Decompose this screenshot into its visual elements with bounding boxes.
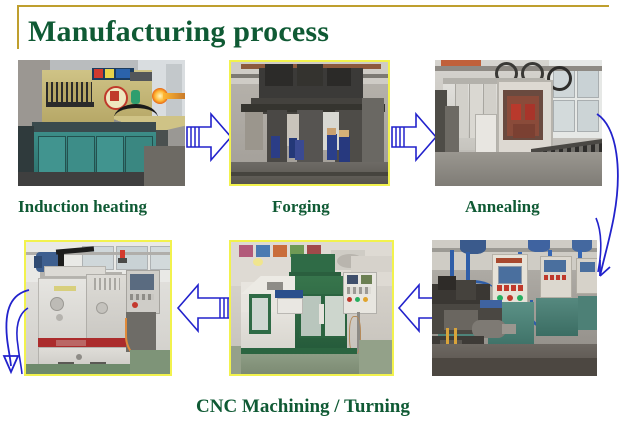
arrow-heating-to-forging xyxy=(186,110,232,164)
arrow-cnc-left-out xyxy=(0,286,32,376)
induction-heating-scene xyxy=(18,60,185,186)
arrow-cnc-center-to-cnc-left xyxy=(177,282,233,334)
photo-forging xyxy=(229,60,390,186)
page-title: Manufacturing process xyxy=(28,15,329,49)
slide-canvas: Manufacturing process xyxy=(0,0,625,428)
caption-cnc-machining-turning: CNC Machining / Turning xyxy=(196,396,410,418)
photo-annealing xyxy=(435,60,602,186)
photo-cnc-machining-center xyxy=(229,240,394,376)
photo-hydraulic-line xyxy=(432,240,597,376)
photo-cnc-turning xyxy=(24,240,172,376)
arrow-forging-to-annealing xyxy=(391,110,437,164)
left-rule-decoration xyxy=(17,5,19,49)
photo-induction-heating xyxy=(18,60,185,186)
annealing-scene xyxy=(435,60,602,186)
cnc-turning-scene xyxy=(26,242,170,374)
caption-induction-heating: Induction heating xyxy=(18,197,147,217)
forging-scene xyxy=(231,62,388,184)
hydraulic-line-scene xyxy=(432,240,597,376)
cnc-machining-center-scene xyxy=(231,242,392,374)
arrow-annealing-to-cnc-right xyxy=(594,112,625,280)
top-rule-decoration xyxy=(17,5,609,7)
caption-forging: Forging xyxy=(272,197,330,217)
caption-annealing: Annealing xyxy=(465,197,540,217)
